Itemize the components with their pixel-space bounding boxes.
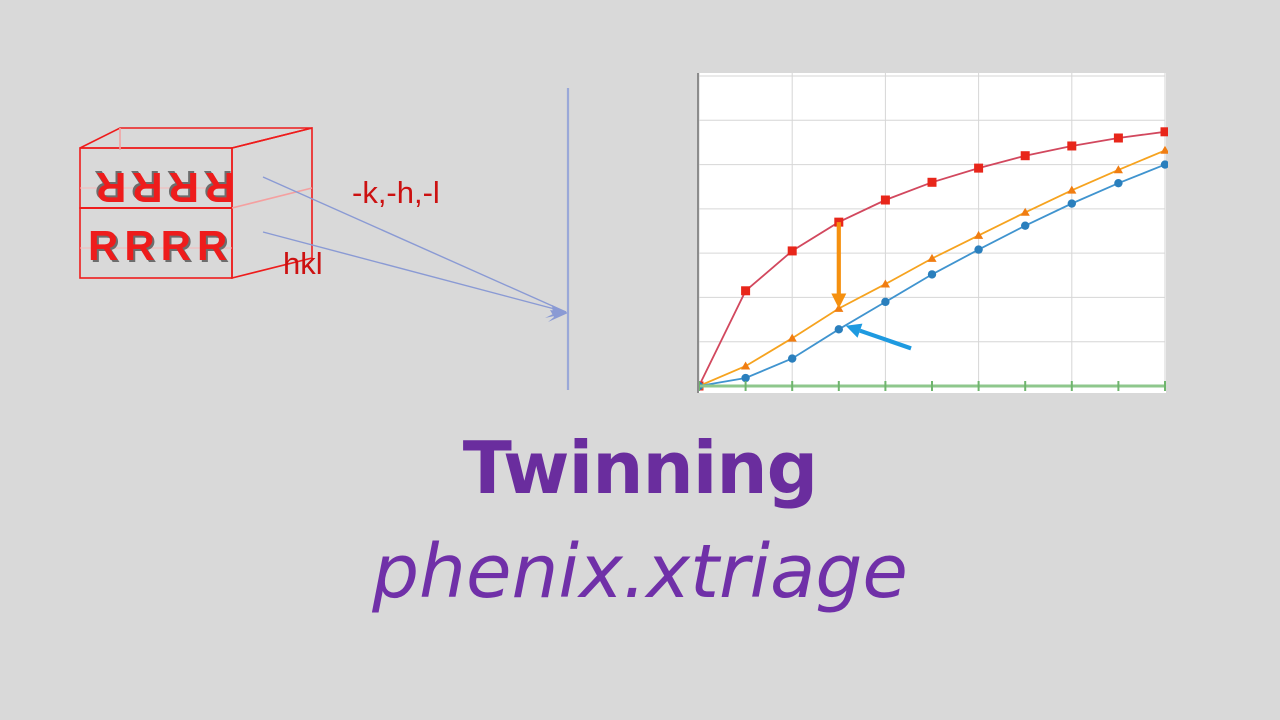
label-minus-k-minus-h-minus-l: -k,-h,-l <box>352 175 440 211</box>
slide-subtitle: phenix.xtriage <box>0 535 1280 609</box>
marker-intermediate <box>788 334 797 342</box>
marker-untwinned-cumulative <box>1021 221 1029 229</box>
plot-gridlines <box>699 73 1165 386</box>
marker-twinned-cumulative <box>928 178 936 186</box>
marker-twinned-cumulative <box>788 247 796 255</box>
upper-twin-domain-lattice-text: RRRR <box>90 163 235 211</box>
marker-intermediate <box>1160 146 1168 154</box>
marker-untwinned-cumulative <box>1068 199 1076 207</box>
marker-twinned-cumulative <box>1068 142 1076 150</box>
marker-twinned-cumulative <box>1161 128 1168 136</box>
marker-intermediate <box>881 280 890 288</box>
marker-twinned-cumulative <box>1021 152 1029 160</box>
twin-crystal-diagram: RRRR RRRR -k,-h,-l hkl <box>0 0 640 420</box>
plot-annotations-layer <box>831 222 911 348</box>
plot-vector-art <box>699 73 1168 393</box>
marker-intermediate <box>741 361 750 369</box>
marker-twinned-cumulative <box>975 164 983 172</box>
plot-series-layer <box>699 128 1168 391</box>
marker-intermediate <box>974 231 983 239</box>
marker-twinned-cumulative <box>881 196 889 204</box>
marker-twinned-cumulative <box>1114 134 1122 142</box>
lower-twin-domain-lattice-text: RRRR <box>88 222 233 270</box>
marker-twinned-cumulative <box>742 287 750 295</box>
marker-untwinned-cumulative <box>788 354 796 362</box>
marker-untwinned-cumulative <box>1161 160 1168 168</box>
marker-untwinned-cumulative <box>835 325 843 333</box>
blue-left-arrow-head <box>846 324 863 338</box>
slide-root: RRRR RRRR -k,-h,-l hkl Twinning phenix.x… <box>0 0 1280 720</box>
label-hkl: hkl <box>283 246 323 282</box>
marker-untwinned-cumulative <box>741 374 749 382</box>
marker-untwinned-cumulative <box>1114 179 1122 187</box>
marker-untwinned-cumulative <box>881 298 889 306</box>
marker-untwinned-cumulative <box>928 270 936 278</box>
cumulative-intensity-plot <box>697 73 1166 393</box>
slide-title: Twinning <box>0 432 1280 504</box>
marker-untwinned-cumulative <box>974 245 982 253</box>
